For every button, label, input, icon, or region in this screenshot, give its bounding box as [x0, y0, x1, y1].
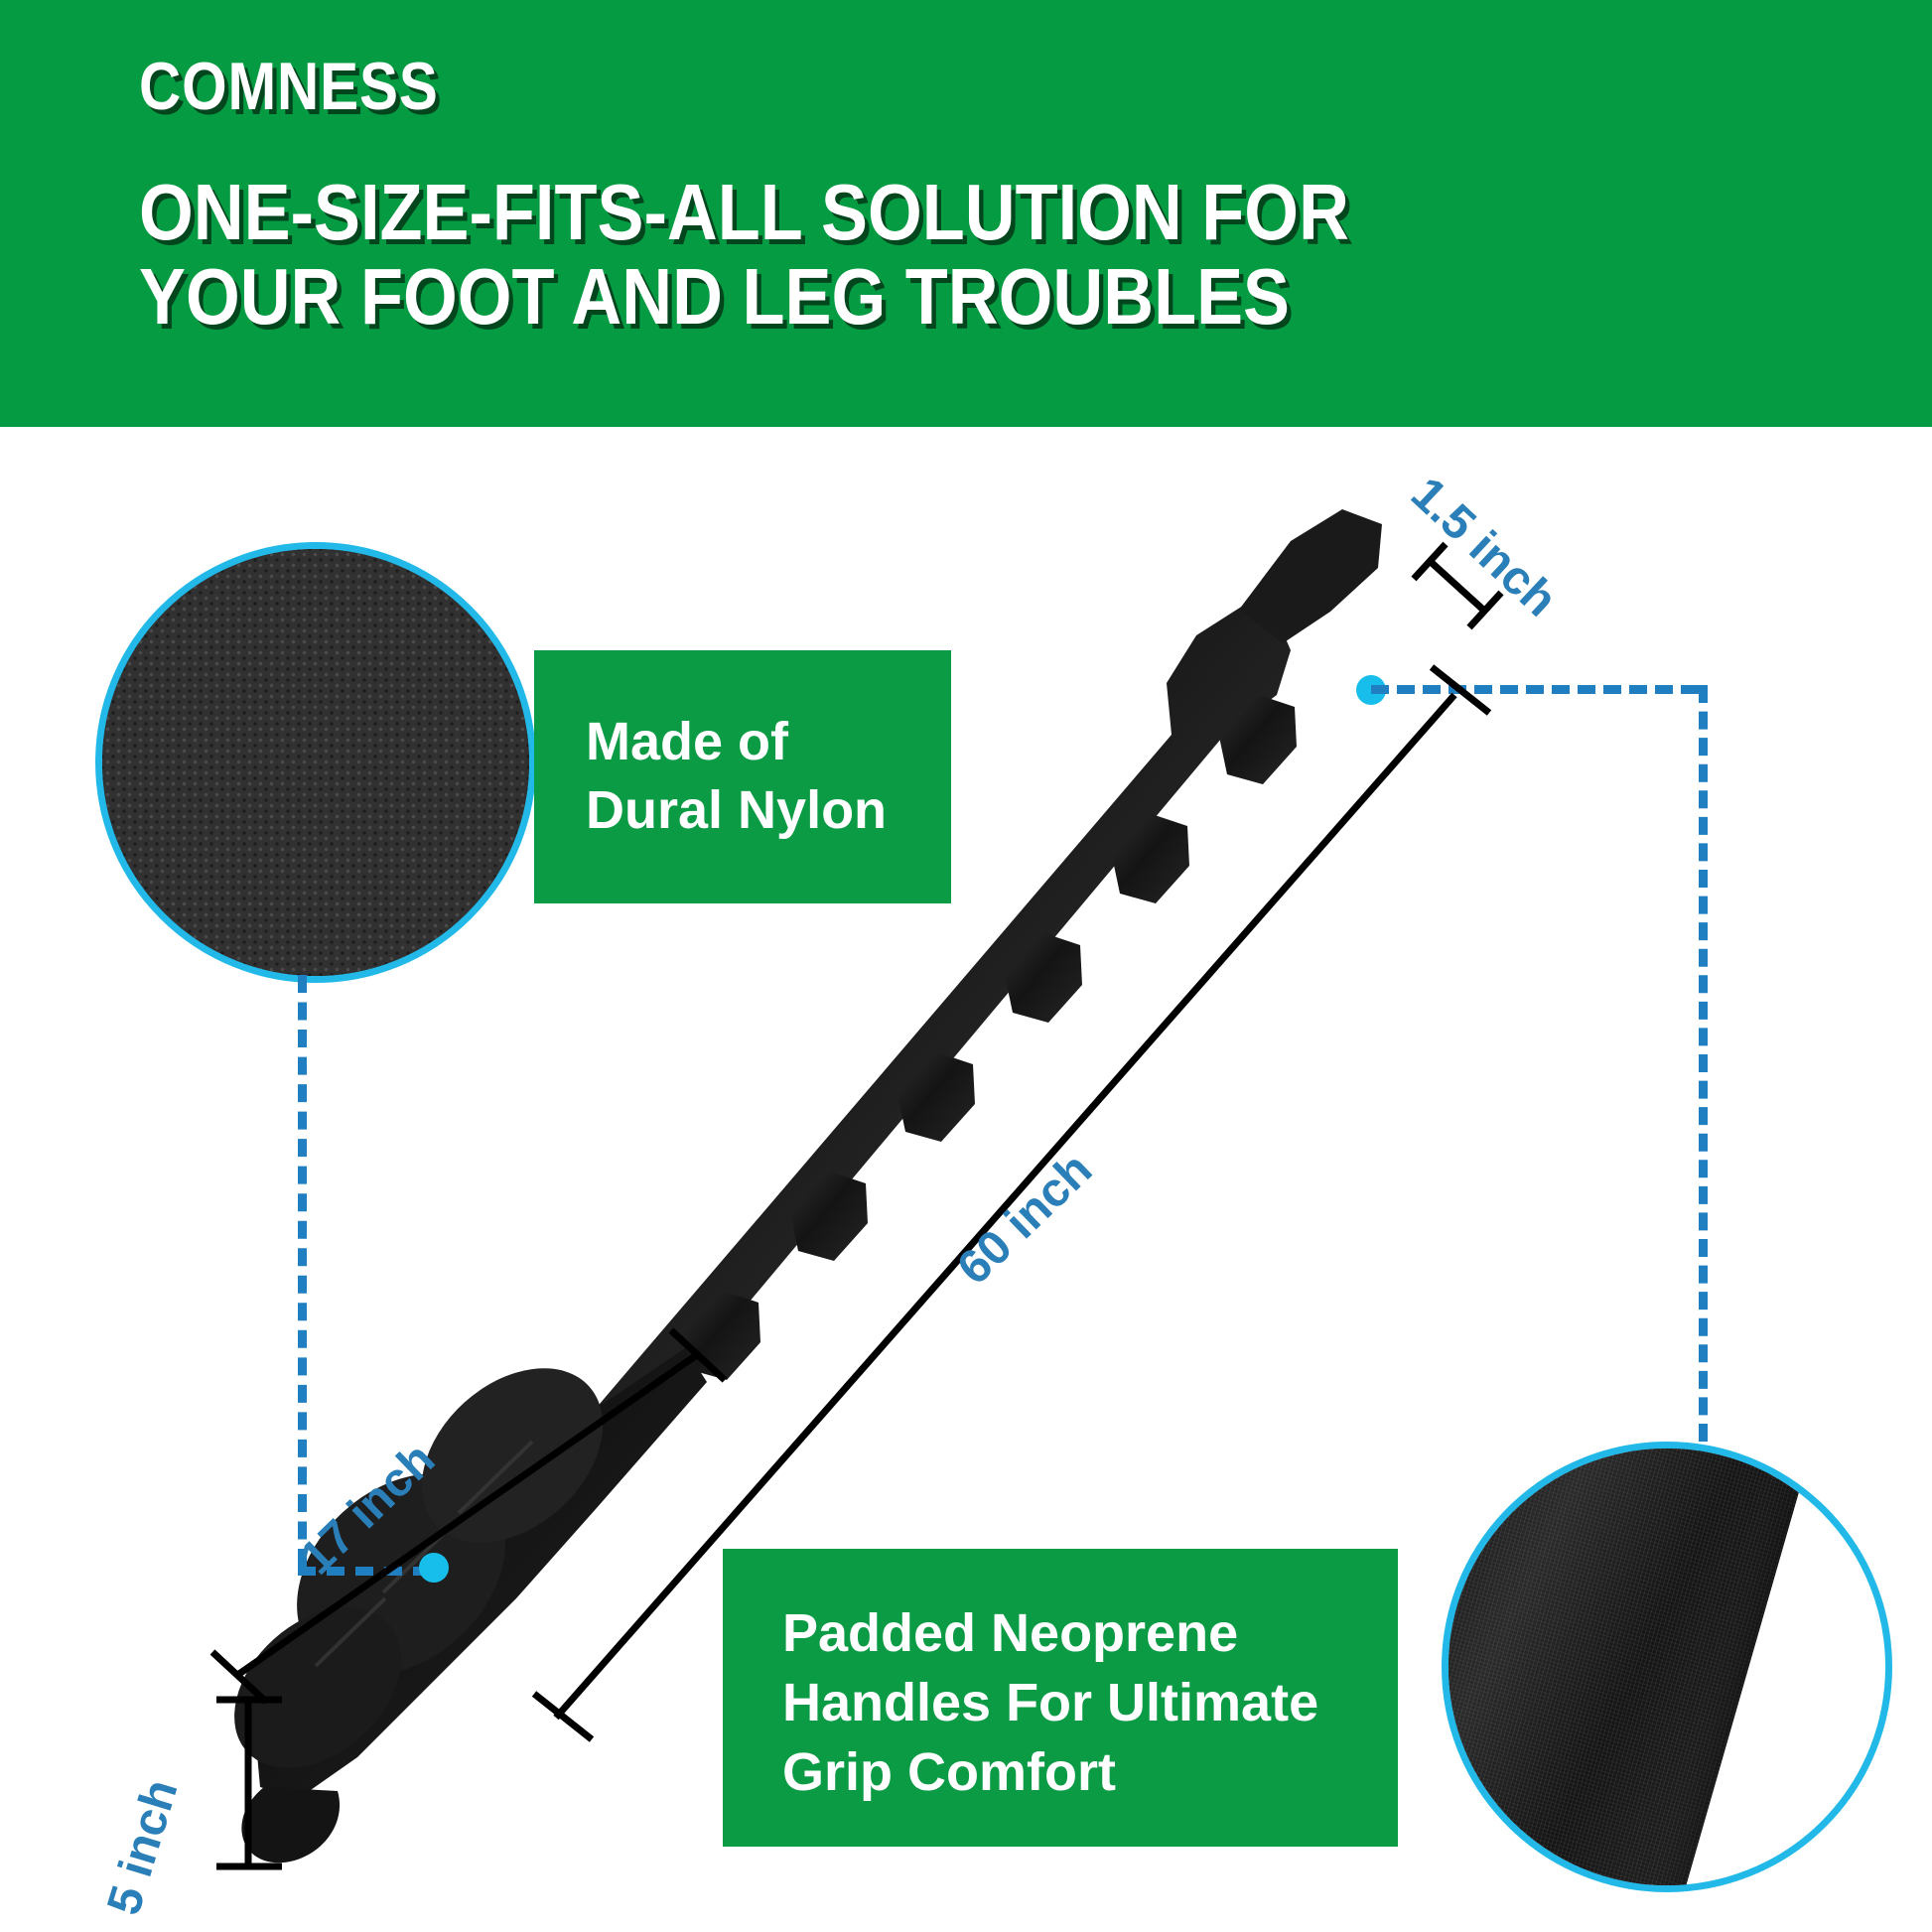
leader-line-nylon-vertical [298, 975, 307, 1567]
headline: ONE-SIZE-FITS-ALL SOLUTION FOR YOUR FOOT… [139, 171, 1642, 340]
bracket-1_5inch-cap-a [1414, 544, 1446, 579]
callout-handles-line-3: Grip Comfort [782, 1737, 1318, 1807]
callout-box-nylon: Made of Dural Nylon [534, 650, 951, 903]
callout-nylon-line-2: Dural Nylon [586, 776, 887, 845]
callout-handles-line-2: Handles For Ultimate [782, 1668, 1318, 1737]
dimension-label-60inch: 60 inch [947, 1143, 1103, 1296]
callout-nylon-line-1: Made of [586, 708, 887, 776]
bracket-60inch-cap-b [534, 1694, 592, 1739]
leader-line-webbing-horizontal [1371, 685, 1699, 694]
webbing-closeup-circle [1442, 1442, 1892, 1892]
headline-line-2: YOUR FOOT AND LEG TROUBLES [139, 255, 1642, 340]
leader-line-webbing-vertical [1699, 685, 1708, 1442]
callout-handles-line-1: Padded Neoprene [782, 1598, 1318, 1668]
headline-line-1: ONE-SIZE-FITS-ALL SOLUTION FOR [139, 171, 1642, 255]
bracket-1_5inch-cap-b [1469, 593, 1501, 627]
dimension-label-5inch: 5 inch [96, 1773, 189, 1921]
callout-handles-text: Padded Neoprene Handles For Ultimate Gri… [782, 1598, 1318, 1808]
nylon-weave-texture [102, 549, 529, 976]
anchor-dot-nylon [419, 1553, 449, 1583]
header-banner: COMNESS ONE-SIZE-FITS-ALL SOLUTION FOR Y… [0, 0, 1932, 427]
nylon-texture-circle [95, 542, 536, 983]
bracket-17inch-cap-a [671, 1330, 725, 1380]
brand-title: COMNESS [139, 48, 439, 125]
neoprene-webbing-texture [1442, 1442, 1815, 1892]
callout-nylon-text: Made of Dural Nylon [586, 708, 887, 845]
bracket-17inch-cap-b [212, 1652, 266, 1702]
dimension-label-1_5inch: 1.5 inch [1400, 467, 1567, 627]
callout-box-handles: Padded Neoprene Handles For Ultimate Gri… [723, 1549, 1398, 1847]
